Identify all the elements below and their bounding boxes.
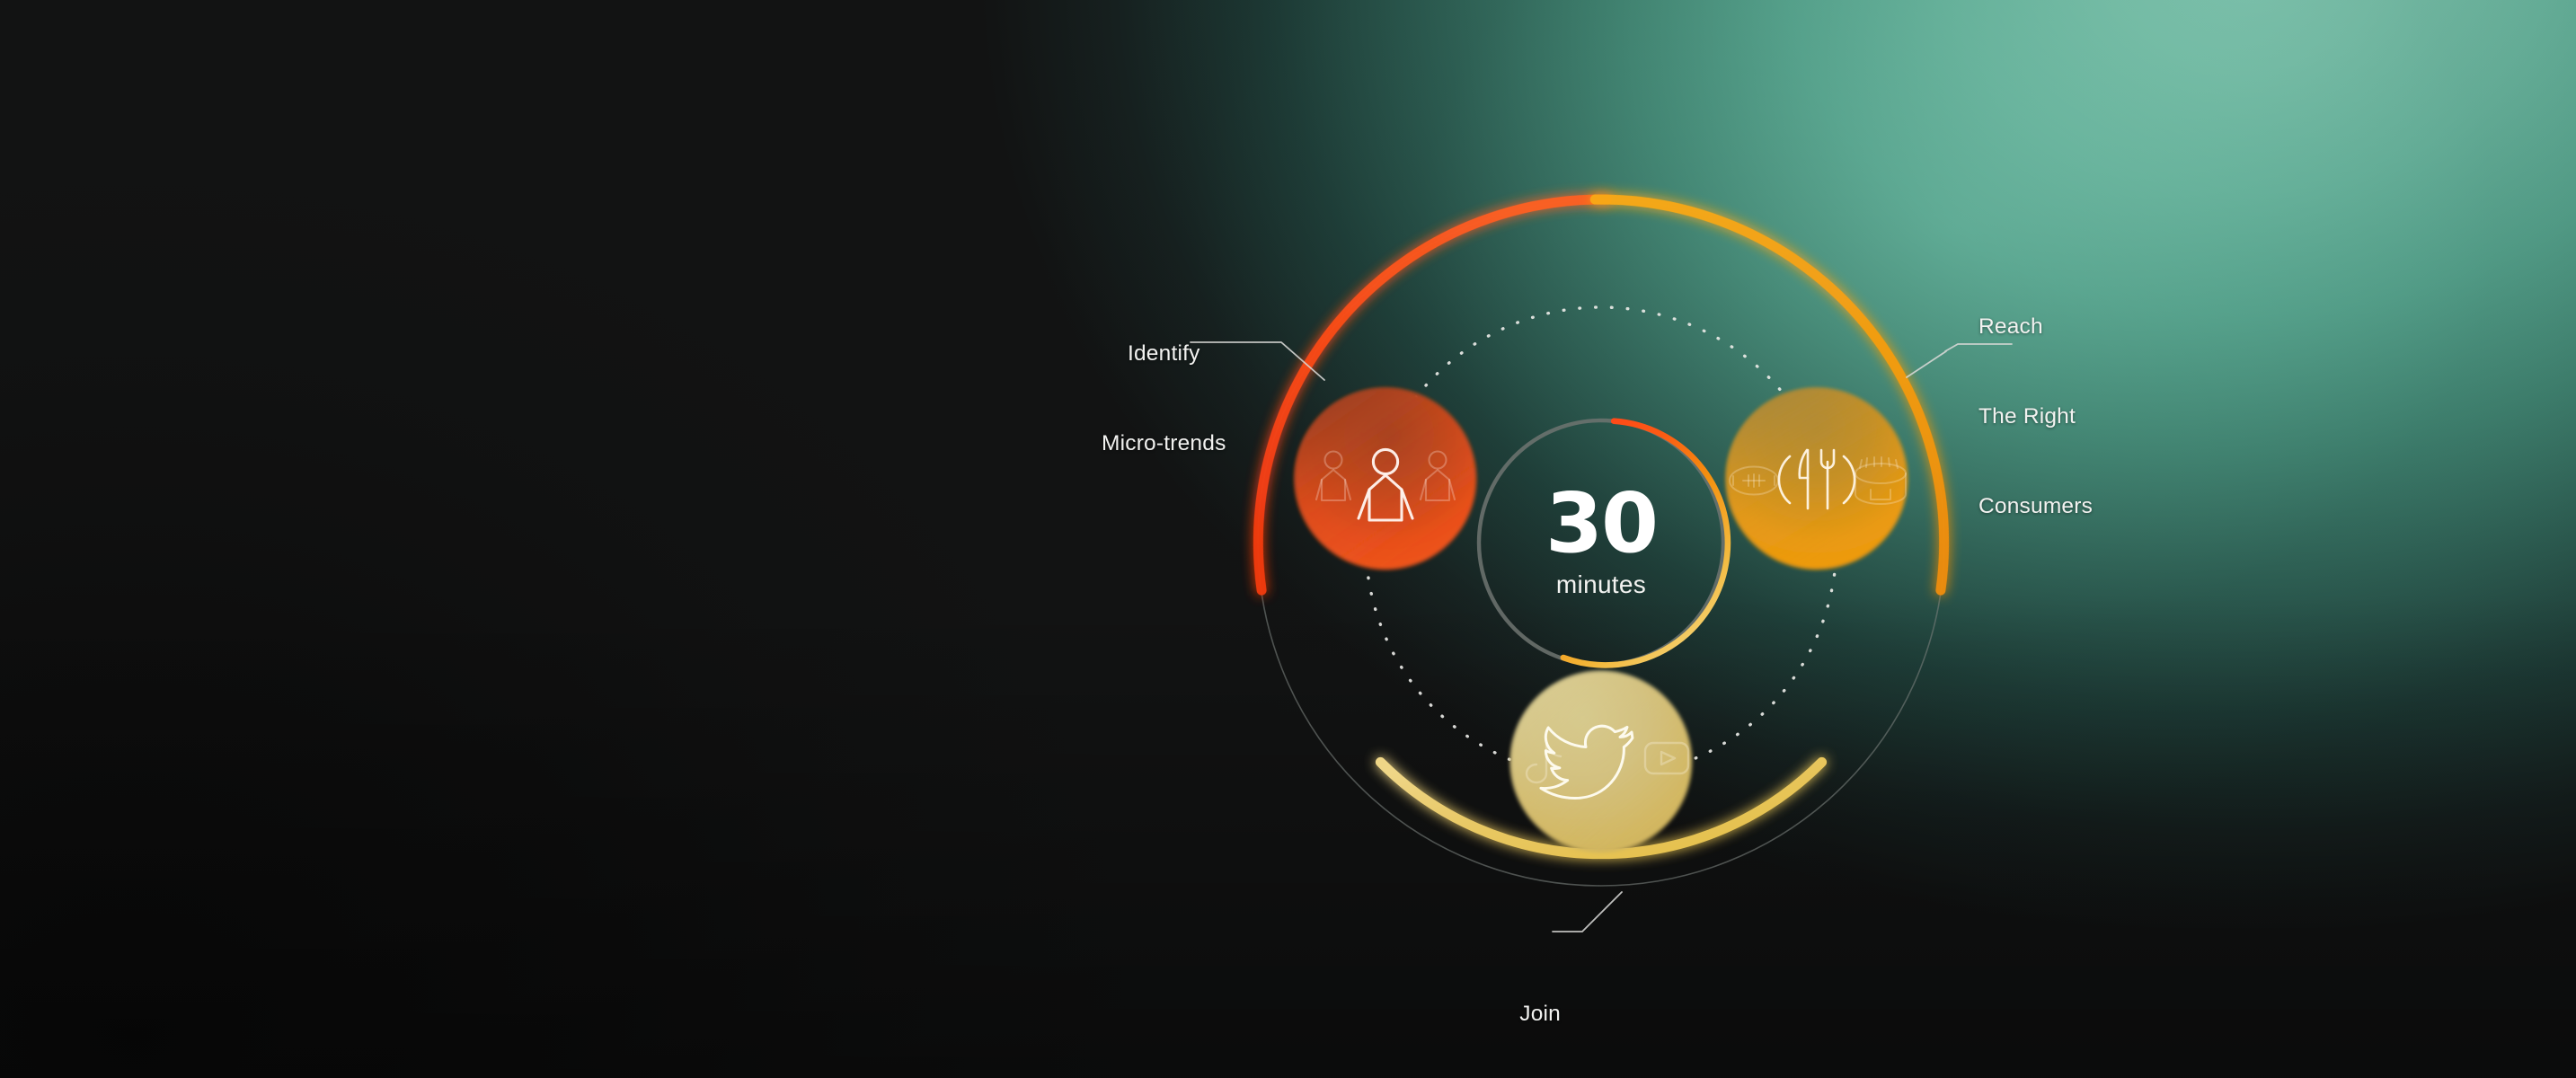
label-line: The Right (1978, 402, 2093, 431)
label-reach-the-right-consumers: Reach The Right Consumers (1978, 252, 2093, 580)
node-interests[interactable] (1726, 388, 1908, 570)
label-join-conversations: Join Conversations (1453, 939, 1561, 1078)
label-line: Micro-trends (1102, 429, 1226, 458)
node-social[interactable] (1510, 671, 1692, 853)
circular-diagram (0, 0, 2576, 1078)
label-line: Consumers (1978, 491, 2093, 521)
diagram-canvas: Identify Micro-trends Reach The Right Co… (0, 0, 2576, 1078)
connector-line-bottom (1553, 892, 1622, 932)
inner-ring-track (1479, 420, 1723, 665)
label-line: Identify (1102, 339, 1226, 368)
label-identify-micro-trends: Identify Micro-trends (1102, 278, 1226, 518)
node-audience[interactable] (1295, 388, 1476, 570)
inner-ring-progress (1563, 421, 1728, 666)
label-line: Join (1453, 999, 1561, 1029)
label-line: Reach (1978, 312, 2093, 341)
